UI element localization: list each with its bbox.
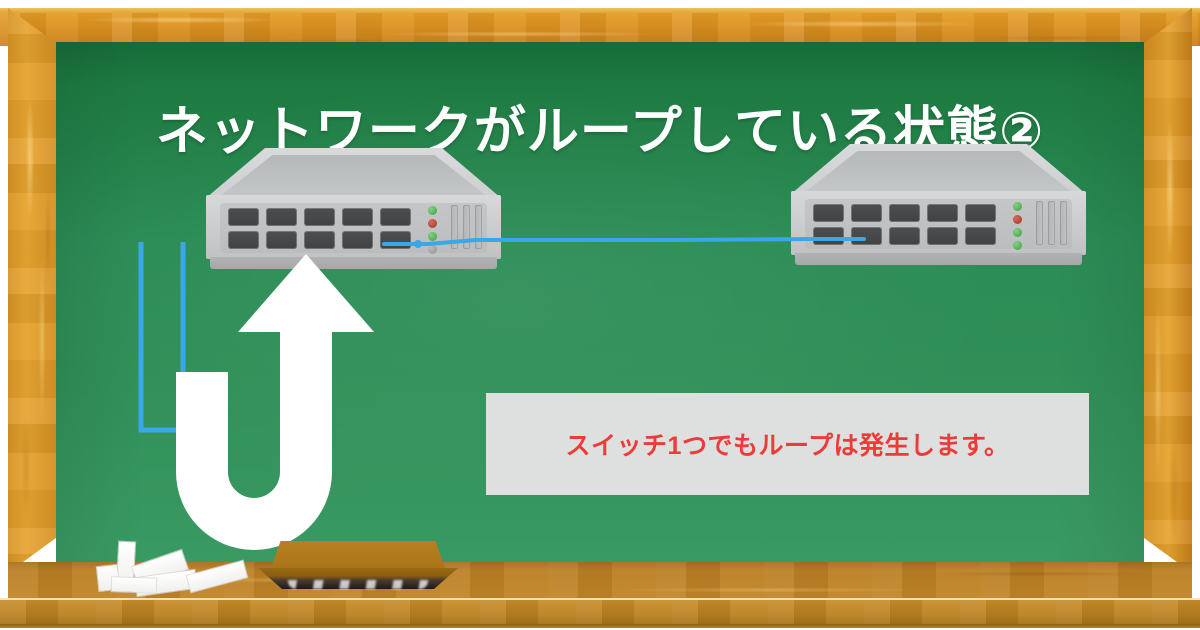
blackboard-eraser (258, 541, 458, 589)
chalk-stick-5 (187, 561, 247, 592)
switch-right-port-row-bottom (813, 227, 1003, 245)
port-bottom-2 (266, 231, 297, 249)
switch-left (206, 148, 501, 283)
switch-right (791, 144, 1086, 279)
switch-right-port-bank (813, 204, 1003, 246)
blackboard-surface: ネットワークがループしている状態② (56, 42, 1144, 566)
port-top-3 (304, 208, 335, 226)
vent-slot-1 (451, 205, 458, 249)
led-status-4-gray (428, 245, 437, 254)
frame-left-rail (8, 8, 60, 573)
port-bottom-5 (380, 231, 411, 249)
port-top-1 (813, 204, 844, 222)
chalk-group (96, 540, 246, 592)
port-top-5 (380, 208, 411, 226)
led-status-2-red (1013, 215, 1022, 224)
blackboard-illustration: ネットワークがループしている状態② (0, 0, 1200, 630)
led-status-3-green (428, 232, 437, 241)
port-bottom-1 (813, 227, 844, 245)
port-top-1 (228, 208, 259, 226)
port-bottom-2 (851, 227, 882, 245)
switch-left-port-bank (228, 208, 418, 250)
led-status-1-green (1013, 202, 1022, 211)
port-bottom-4 (927, 227, 958, 245)
port-top-5 (965, 204, 996, 222)
chalk-tray-front-lip (0, 598, 1200, 628)
switch-right-base-shadow (795, 253, 1082, 265)
led-status-1-green (428, 206, 437, 215)
port-bottom-4 (342, 231, 373, 249)
vent-slot-3 (1060, 201, 1067, 245)
port-bottom-3 (304, 231, 335, 249)
switch-right-led-bank (1013, 202, 1025, 250)
port-bottom-5 (965, 227, 996, 245)
switch-right-vent-group (1036, 201, 1067, 245)
switch-left-led-bank (428, 206, 440, 254)
port-top-2 (266, 208, 297, 226)
chalk-stick-6 (112, 577, 156, 593)
vent-slot-1 (1036, 201, 1043, 245)
port-bottom-3 (889, 227, 920, 245)
switch-left-port-row-top (228, 208, 418, 226)
note-callout-box: スイッチ1つでもループは発生します。 (486, 393, 1089, 495)
led-status-2-red (428, 219, 437, 228)
port-bottom-1 (228, 231, 259, 249)
port-top-4 (342, 208, 373, 226)
frame-top-rail (0, 8, 1200, 46)
port-top-3 (889, 204, 920, 222)
vent-slot-2 (463, 205, 470, 249)
loopback-cable (141, 242, 183, 430)
vent-slot-2 (1048, 201, 1055, 245)
led-status-4-green (1013, 241, 1022, 250)
switch-left-port-row-bottom (228, 231, 418, 249)
port-top-2 (851, 204, 882, 222)
port-top-4 (927, 204, 958, 222)
frame-right-rail (1140, 8, 1192, 573)
switch-left-vent-group (451, 205, 482, 249)
vent-slot-3 (475, 205, 482, 249)
led-status-3-green (1013, 228, 1022, 237)
eraser-felt-pad (258, 568, 458, 589)
switch-left-base-shadow (210, 257, 497, 269)
eraser-wood-back (270, 541, 446, 571)
switch-right-port-row-top (813, 204, 1003, 222)
note-callout-text: スイッチ1つでもループは発生します。 (566, 426, 1010, 462)
u-turn-loop-arrow (176, 254, 374, 550)
